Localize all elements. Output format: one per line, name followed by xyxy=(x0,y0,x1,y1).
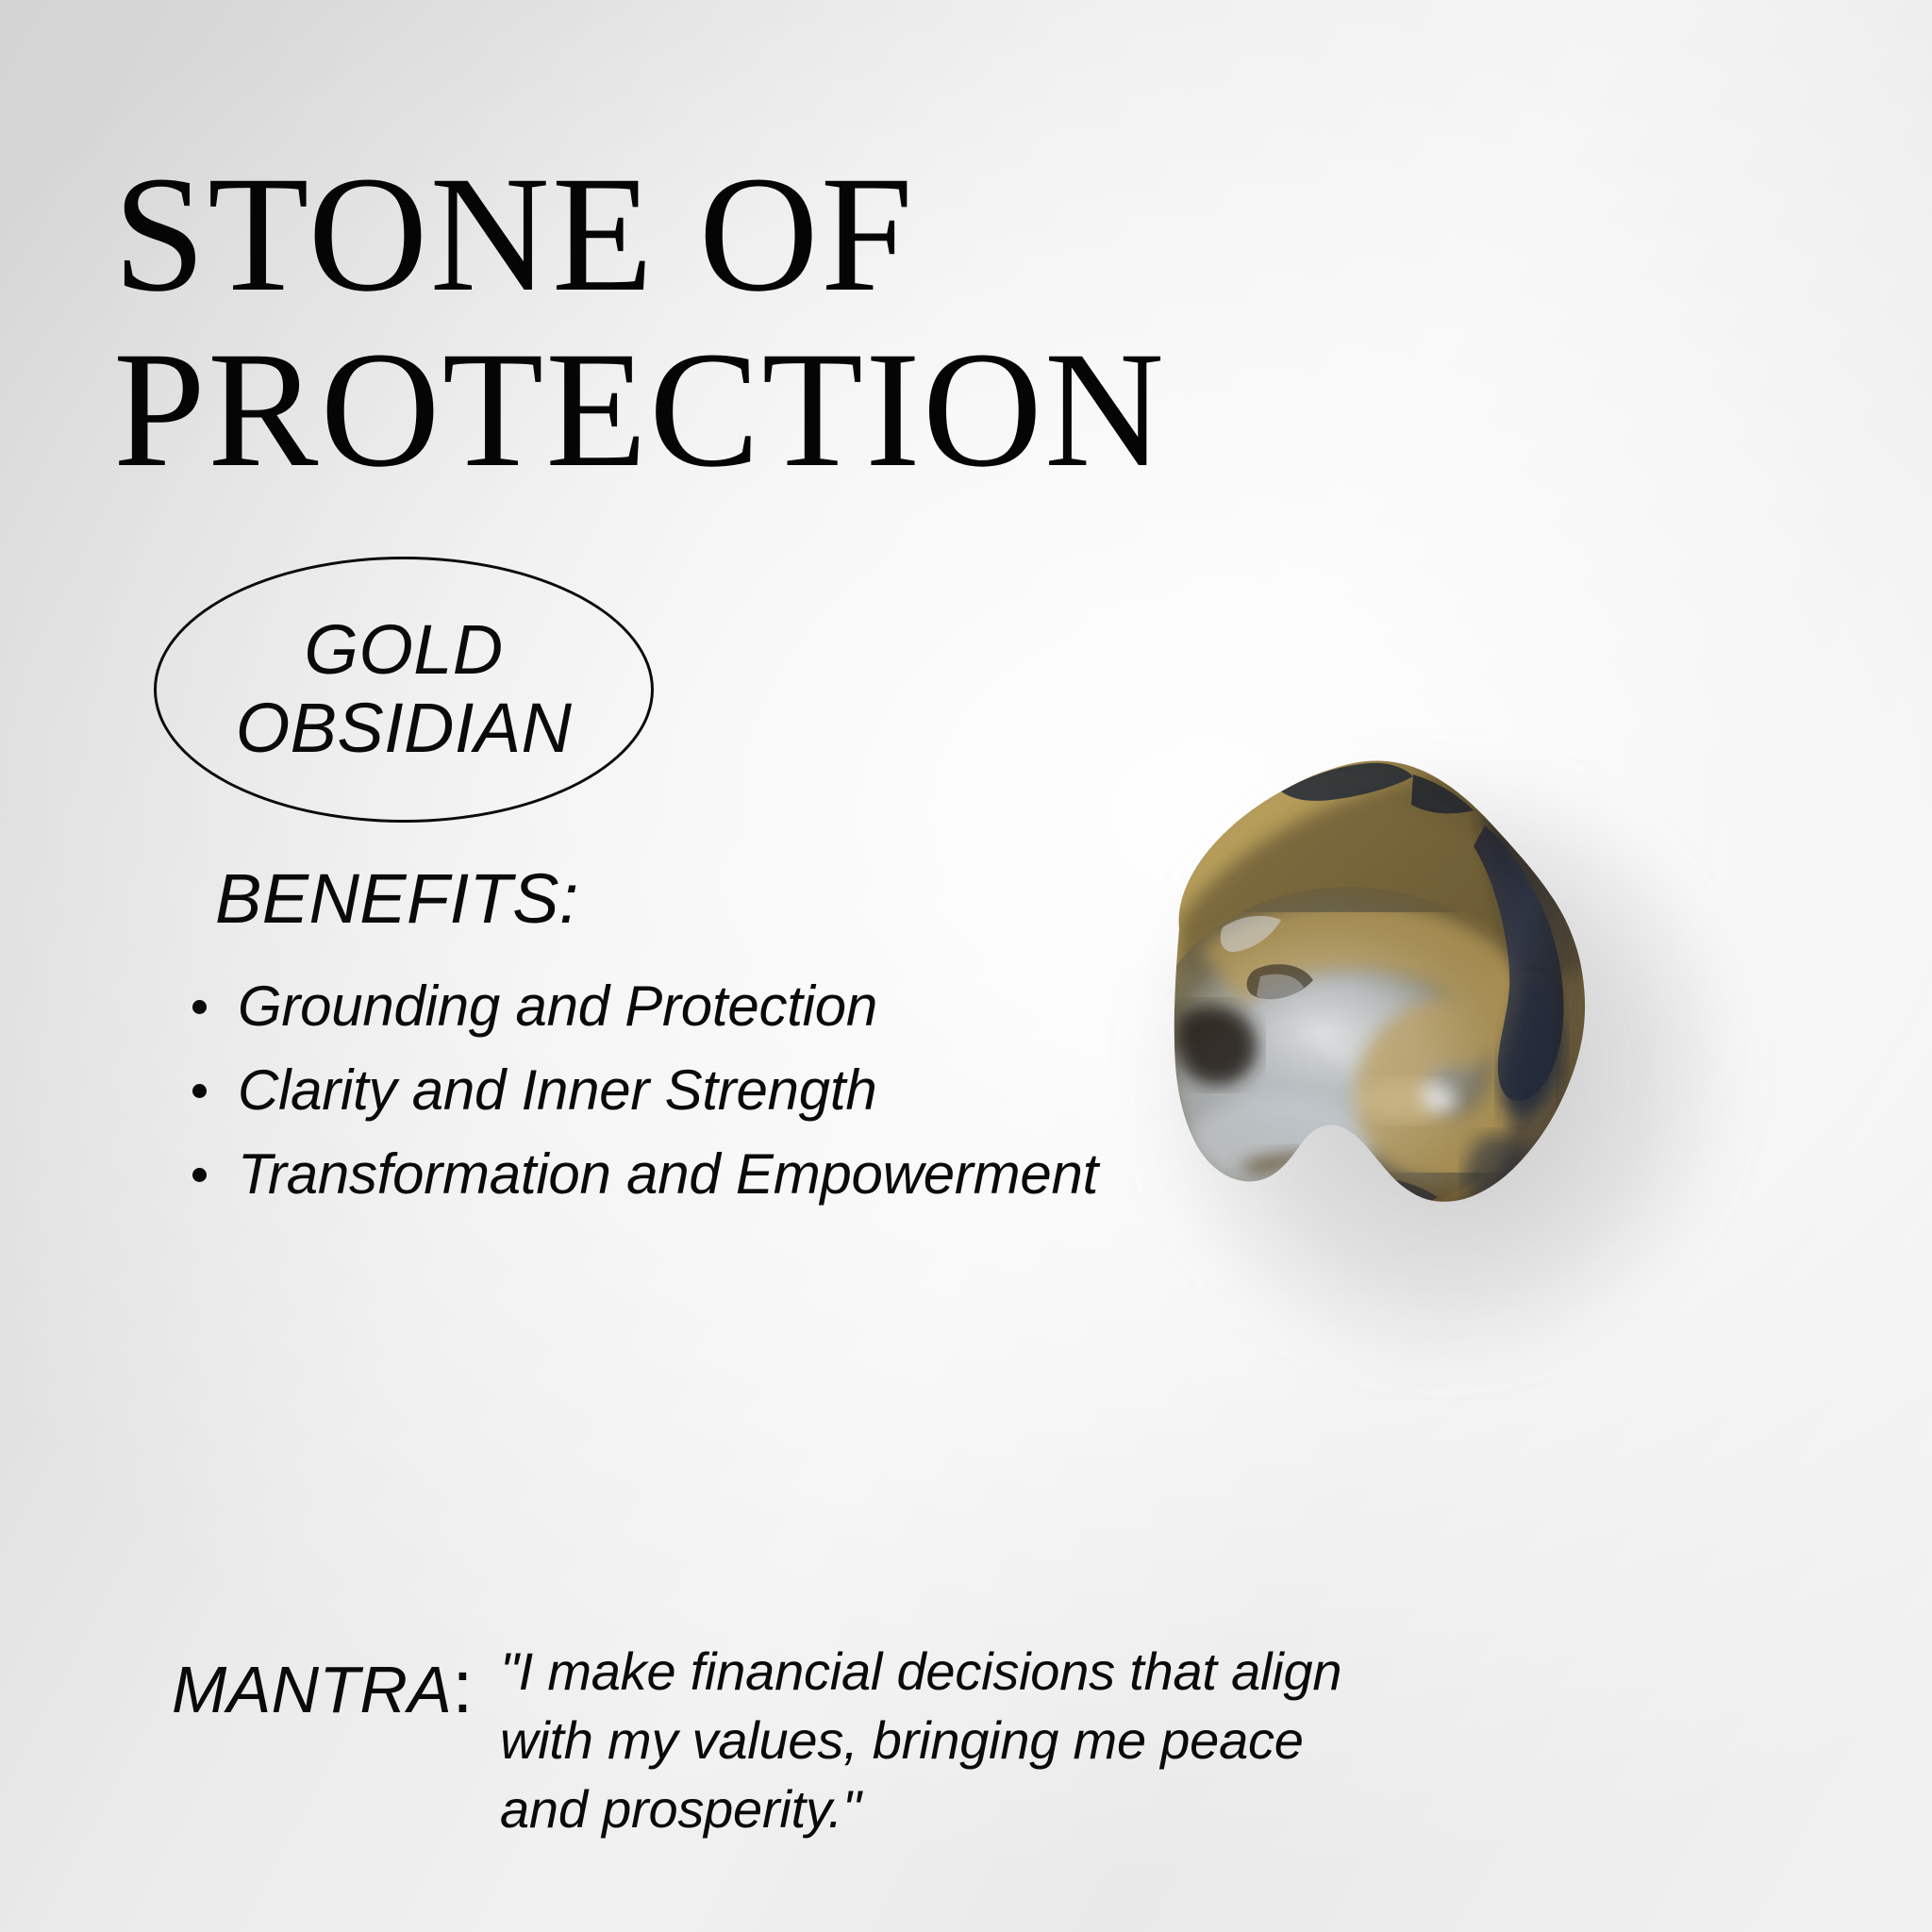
list-item: Grounding and Protection xyxy=(185,970,1185,1043)
badge-line-1: GOLD xyxy=(236,611,573,690)
bullet-icon xyxy=(192,1084,207,1098)
badge-text: GOLD OBSIDIAN xyxy=(236,611,573,768)
list-item: Transformation and Empowerment xyxy=(185,1138,1185,1211)
mantra-label: MANTRA: xyxy=(172,1643,473,1730)
stone-name-badge: GOLD OBSIDIAN xyxy=(154,557,654,823)
benefits-heading: BENEFITS: xyxy=(215,858,579,939)
bullet-icon xyxy=(192,1168,207,1182)
mantra-line-3: and prosperity." xyxy=(500,1775,1670,1844)
page-title: STONE OF PROTECTION xyxy=(113,153,1358,492)
badge-line-2: OBSIDIAN xyxy=(236,690,573,768)
benefits-list: Grounding and Protection Clarity and Inn… xyxy=(185,970,1185,1222)
gold-obsidian-stone-photo xyxy=(1038,693,1736,1373)
bullet-icon xyxy=(192,1000,207,1014)
list-item-label: Clarity and Inner Strength xyxy=(238,1058,876,1122)
list-item-label: Transformation and Empowerment xyxy=(238,1142,1098,1206)
stone-body xyxy=(1038,693,1736,1373)
stone-illustration xyxy=(1038,693,1736,1373)
list-item: Clarity and Inner Strength xyxy=(185,1054,1185,1127)
mantra-line-1: "I make financial decisions that align xyxy=(500,1638,1670,1707)
poster-canvas: STONE OF PROTECTION GOLD OBSIDIAN BENEFI… xyxy=(0,0,1932,1932)
mantra-line-2: with my values, bringing me peace xyxy=(500,1707,1670,1775)
title-line-2: PROTECTION xyxy=(113,328,1358,492)
title-line-1: STONE OF xyxy=(113,153,1358,317)
mantra-quote: "I make financial decisions that align w… xyxy=(500,1638,1670,1843)
mantra-label-text: MANTRA xyxy=(172,1653,452,1726)
mantra-colon: : xyxy=(452,1644,473,1728)
list-item-label: Grounding and Protection xyxy=(238,974,877,1038)
